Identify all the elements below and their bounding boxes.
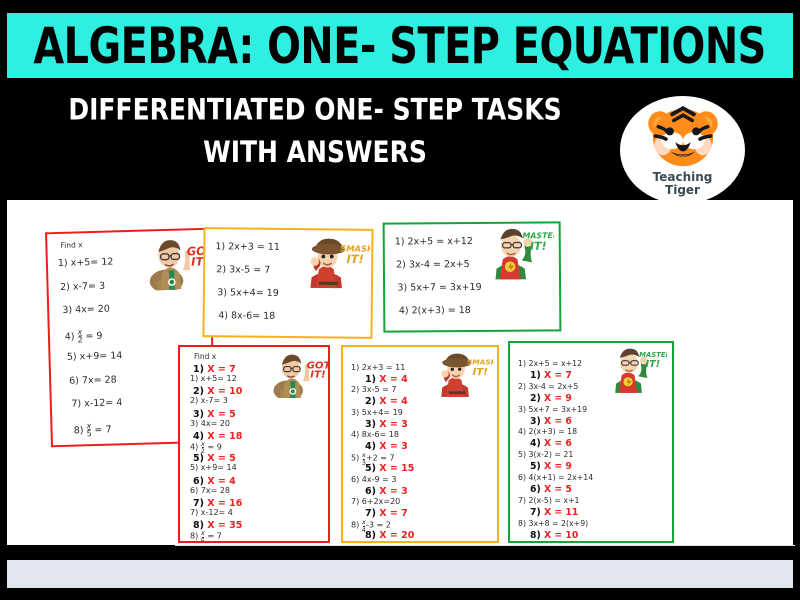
answer-card-yellow[interactable]: 1) X = 41) 2x+3 = 112) X = 42) 3x-5 = 73… bbox=[341, 345, 499, 543]
character-mastered-it-answers: MASTEREDIT! bbox=[606, 345, 667, 393]
answer-card-green[interactable]: 1) X = 71) 2x+5 = x+122) X = 92) 3x-4 = … bbox=[508, 341, 674, 543]
answer-item: 1) X = 4 bbox=[365, 374, 408, 385]
svg-text:IT!: IT! bbox=[530, 240, 547, 253]
answer-item: 2) X = 9 bbox=[530, 393, 572, 404]
sheet-divider bbox=[175, 545, 795, 546]
question-list-yellow: 1) 2x+3 = 112) 3x-5 = 73) 5x+4= 194) 8x-… bbox=[206, 229, 372, 231]
answer-number: 7) bbox=[365, 508, 376, 519]
subtitle-line-1: DIFFERENTIATED ONE- STEP TASKS bbox=[20, 89, 610, 131]
question-item: 2) x-7= 3 bbox=[190, 396, 228, 405]
answer-number: 6) bbox=[365, 486, 376, 497]
answer-value: X = 3 bbox=[379, 486, 408, 497]
question-item: 7) x-12= 4 bbox=[71, 397, 122, 409]
tiger-face-icon bbox=[644, 102, 722, 170]
answer-item: 6) X = 5 bbox=[530, 484, 572, 495]
answer-number: 5) bbox=[530, 461, 541, 472]
answer-item: 1) X = 7 bbox=[530, 370, 572, 381]
question-item: 3) 4x= 20 bbox=[190, 419, 230, 428]
question-item: 5) x+9= 14 bbox=[190, 463, 237, 472]
answer-card-yellow-body: 1) X = 41) 2x+3 = 112) X = 42) 3x-5 = 73… bbox=[343, 347, 497, 541]
answer-number: 4) bbox=[530, 438, 541, 449]
answer-number: 1) bbox=[365, 374, 376, 385]
answer-value: X = 10 bbox=[544, 530, 578, 541]
answer-number: 7) bbox=[530, 507, 541, 518]
question-item: 4) 2(x+3) = 18 bbox=[518, 427, 577, 436]
character-got-it-answers: GOTIT! bbox=[268, 350, 328, 398]
answer-value: X = 11 bbox=[544, 507, 578, 518]
answer-number: 8) bbox=[530, 530, 541, 541]
question-item: 1) x+5= 12 bbox=[58, 256, 114, 269]
question-item: 1) 2x+3 = 11 bbox=[215, 241, 280, 253]
question-item: 3) 5x+7 = 3x+19 bbox=[397, 282, 481, 294]
question-item: 6) 4x-9 = 3 bbox=[351, 475, 396, 484]
question-item: 1) 2x+5 = x+12 bbox=[395, 236, 473, 248]
question-item: 2) 3x-4 = 2x+5 bbox=[518, 382, 578, 391]
question-item: 8) x4-3 = 2 bbox=[351, 519, 391, 533]
question-item: 6) 7x= 28 bbox=[69, 374, 117, 386]
page-title: ALGEBRA: ONE- STEP EQUATIONS bbox=[34, 16, 767, 75]
question-item: 7) x-12= 4 bbox=[190, 508, 233, 517]
question-item: 4) x2 = 9 bbox=[65, 327, 103, 345]
subtitle-line-2: WITH ANSWERS bbox=[20, 131, 610, 173]
answer-item: 4) X = 3 bbox=[365, 441, 408, 452]
question-item: 1) x+5= 12 bbox=[190, 374, 237, 383]
answer-value: X = 7 bbox=[379, 508, 408, 519]
question-item: 5) 3(x-2) = 21 bbox=[518, 450, 573, 459]
answer-item: 3) X = 6 bbox=[530, 416, 572, 427]
question-card-green-body: 1) 2x+5 = x+122) 3x-4 = 2x+53) 5x+7 = 3x… bbox=[385, 223, 560, 330]
logo-text-line-2: Tiger bbox=[665, 183, 700, 197]
answer-value: X = 9 bbox=[544, 461, 572, 472]
question-item: 4) 8x-6= 18 bbox=[218, 310, 275, 322]
answer-card-red[interactable]: Find x 1) X = 71) x+5= 122) X = 102) x-7… bbox=[178, 345, 330, 543]
answer-value: X = 3 bbox=[379, 441, 408, 452]
svg-text:IT!: IT! bbox=[346, 252, 364, 266]
answer-value: X = 4 bbox=[379, 396, 408, 407]
answer-value: X = 7 bbox=[544, 370, 572, 381]
answer-value: X = 5 bbox=[544, 484, 572, 495]
answer-value: X = 3 bbox=[379, 419, 408, 430]
answer-value: X = 9 bbox=[544, 393, 572, 404]
question-item: 1) 2x+5 = x+12 bbox=[518, 359, 582, 368]
answer-item: 5) X = 9 bbox=[530, 461, 572, 472]
question-item: 3) 4x= 20 bbox=[62, 304, 110, 316]
question-item: 5) x3+2 = 7 bbox=[351, 452, 395, 466]
answer-item: 4) X = 6 bbox=[530, 438, 572, 449]
answer-number: 2) bbox=[365, 396, 376, 407]
answer-number: 1) bbox=[530, 370, 541, 381]
question-item: 1) 2x+3 = 11 bbox=[351, 363, 405, 372]
question-card-yellow-body: 1) 2x+3 = 112) 3x-5 = 73) 5x+4= 194) 8x-… bbox=[204, 229, 371, 337]
poster-canvas: ALGEBRA: ONE- STEP EQUATIONS DIFFERENTIA… bbox=[0, 0, 800, 600]
question-item: 2) 3x-5 = 7 bbox=[351, 385, 396, 394]
answer-item: 3) X = 3 bbox=[365, 419, 408, 430]
question-item: 5) x+9= 14 bbox=[67, 350, 123, 363]
question-item: 8) x5 = 7 bbox=[190, 530, 222, 541]
answer-number: 3) bbox=[365, 419, 376, 430]
question-item: 3) 5x+4= 19 bbox=[217, 287, 279, 299]
question-item: 2) 3x-4 = 2x+5 bbox=[396, 259, 470, 271]
answer-card-red-body: Find x 1) X = 71) x+5= 122) X = 102) x-7… bbox=[180, 347, 328, 541]
question-item: 8) 3x+8 = 2(x+9) bbox=[518, 519, 588, 528]
question-item: 6) 7x= 28 bbox=[190, 486, 230, 495]
svg-text:MASTERED: MASTERED bbox=[639, 351, 667, 359]
answer-item: 2) X = 4 bbox=[365, 396, 408, 407]
footer-band bbox=[7, 560, 793, 588]
question-item: 2) 3x-5 = 7 bbox=[216, 264, 270, 276]
character-smashed-it-answers: SMASHEDIT! bbox=[433, 349, 494, 397]
question-item: 4) 2(x+3) = 18 bbox=[399, 305, 471, 317]
find-x-heading: Find x bbox=[60, 240, 82, 250]
svg-text:IT!: IT! bbox=[310, 370, 325, 381]
question-item: 8) x5 = 7 bbox=[74, 421, 112, 439]
find-x-heading-answers: Find x bbox=[194, 352, 216, 361]
question-item: 3) 5x+4= 19 bbox=[351, 408, 403, 417]
question-item: 7) 2(x-5) = x+1 bbox=[518, 496, 580, 505]
teaching-tiger-logo: Teaching Tiger bbox=[620, 96, 745, 204]
question-card-green[interactable]: 1) 2x+5 = x+122) 3x-4 = 2x+53) 5x+7 = 3x… bbox=[383, 221, 562, 332]
answer-value: X = 6 bbox=[544, 416, 572, 427]
question-item: 6) 4(x+1) = 2x+14 bbox=[518, 473, 593, 482]
logo-text: Teaching Tiger bbox=[653, 171, 713, 196]
answer-item: 7) X = 7 bbox=[365, 508, 408, 519]
character-smashed-it: SMASHEDIT! bbox=[301, 233, 371, 288]
answer-value: X = 4 bbox=[379, 374, 408, 385]
answer-number: 6) bbox=[530, 484, 541, 495]
character-mastered-it: MASTEREDIT! bbox=[485, 224, 555, 279]
question-item: 7) 6+2x=20 bbox=[351, 497, 400, 506]
question-card-yellow[interactable]: 1) 2x+3 = 112) 3x-5 = 73) 5x+4= 194) 8x-… bbox=[202, 227, 373, 339]
answer-number: 3) bbox=[530, 416, 541, 427]
title-banner: ALGEBRA: ONE- STEP EQUATIONS bbox=[7, 13, 793, 78]
svg-text:SMASHED: SMASHED bbox=[467, 358, 494, 367]
svg-text:IT!: IT! bbox=[473, 367, 488, 378]
answer-item: 8) X = 10 bbox=[530, 530, 578, 541]
question-item: 2) x-7= 3 bbox=[60, 280, 105, 292]
question-item: 3) 5x+7 = 3x+19 bbox=[518, 405, 587, 414]
svg-text:IT!: IT! bbox=[646, 359, 661, 370]
answer-number: 4) bbox=[365, 441, 376, 452]
answer-item: 6) X = 3 bbox=[365, 486, 408, 497]
answer-card-green-body: 1) X = 71) 2x+5 = x+122) X = 92) 3x-4 = … bbox=[510, 343, 672, 541]
answer-item: 7) X = 11 bbox=[530, 507, 578, 518]
subtitle-block: DIFFERENTIATED ONE- STEP TASKS WITH ANSW… bbox=[20, 89, 610, 173]
answer-value: X = 6 bbox=[544, 438, 572, 449]
answer-number: 2) bbox=[530, 393, 541, 404]
question-item: 4) 8x-6= 18 bbox=[351, 430, 399, 439]
